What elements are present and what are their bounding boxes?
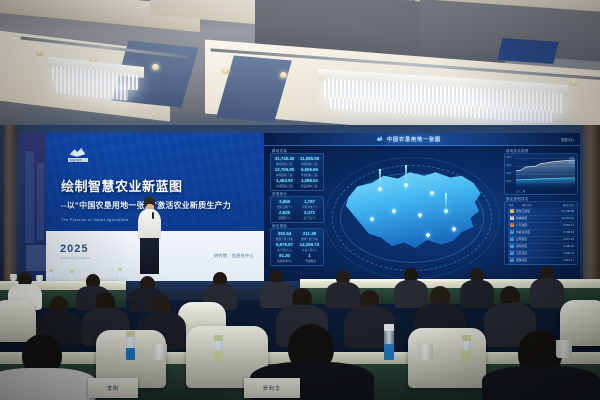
attendee-body (0, 368, 96, 400)
recessed-spotlight-icon (280, 72, 287, 78)
kpi-value: 1,298.51 (297, 178, 322, 183)
trend-chart[interactable]: 6000 4500 3000 1500 (504, 153, 578, 195)
speaker-shirt (138, 209, 161, 241)
placard-name: 李刚 (107, 385, 119, 392)
map-bar (405, 165, 407, 183)
conference-chair (0, 300, 36, 342)
recessed-spotlight-icon (222, 68, 229, 74)
ceiling-wedge (497, 38, 558, 64)
kpi-value: 392.64 (272, 231, 297, 236)
map-pin-icon[interactable] (404, 183, 408, 187)
recessed-spotlight-icon (570, 80, 577, 86)
water-bottle (70, 273, 74, 283)
map-pin-icon[interactable] (418, 213, 422, 217)
kpi-label: 管理区(个) (272, 216, 297, 220)
dashboard-badge: 数据中心 (561, 137, 574, 142)
bottle-label (384, 344, 394, 360)
kpi-label: 园地面积(万亩) (297, 162, 322, 166)
map-pin-icon[interactable] (370, 217, 374, 221)
attendee-body (460, 280, 494, 308)
ranking-col-value: 面积(万亩) (563, 203, 574, 207)
kpi-value: 5,879.87 (272, 242, 297, 247)
kpi-value: 2,828 (272, 210, 297, 215)
bottle-cap (49, 269, 53, 272)
kpi-label: 草地面积(万亩) (297, 173, 322, 177)
kpi-value: 2,471 (297, 210, 322, 215)
kpi-label: 林地面积(万亩) (272, 173, 297, 177)
kpi-value: 91.30 (272, 253, 297, 258)
map-pin-icon[interactable] (452, 227, 456, 231)
rank-value: 9,560.71 (563, 223, 574, 227)
kpi-value: 1 (297, 253, 322, 258)
attendee-body (530, 278, 564, 308)
kpi-value: 1,463.92 (272, 178, 297, 183)
water-bottle (118, 271, 122, 282)
rank-badge: 4 (510, 230, 514, 234)
slide-subhead: --以“中国农垦用地一张图”激活农业新质生产力 (61, 200, 266, 211)
data-dashboard: 中国农垦用地一张图 数据中心 耕地总量 31,745.46 耕地面积(万亩) 1… (264, 133, 580, 281)
bottle-cap (462, 335, 471, 341)
rank-name: 安徽垦区 (516, 258, 527, 262)
slide-headline: 绘制智慧农业新蓝图 (61, 176, 266, 195)
name-placard: 李刚 (88, 378, 138, 398)
ranking-col-name: 垦区名称 (522, 203, 532, 207)
recessed-spotlight-icon (36, 50, 43, 56)
map-pin-icon[interactable] (378, 187, 382, 191)
rank-badge: 1 (510, 209, 514, 213)
bottle-cap (384, 324, 394, 331)
kpi-label: 从业人员(人) (297, 248, 322, 252)
attendee-body (482, 366, 600, 400)
dashboard-title: 中国农垦用地一张图 (387, 136, 441, 143)
slide-year-sub: Smart Agriculture (60, 256, 90, 260)
kpi-value: 14,256.73 (297, 242, 322, 247)
dashboard-logo-icon (376, 136, 383, 142)
slide-english-caption: The Practice of Smart Agriculture (61, 218, 266, 222)
slide-title-block: 绘制智慧农业新蓝图 --以“中国农垦用地一张图”激活农业新质生产力 The Pr… (61, 176, 266, 222)
rank-value: 32,018.42 (562, 216, 574, 220)
organization-logo: 中国农科院 (68, 147, 88, 163)
bottle-cap (70, 270, 74, 273)
kpi-value: 31,745.46 (272, 156, 297, 161)
kpi-label: 国有农场(个) (272, 205, 297, 209)
kpi-panel: 3,656 国有农场(个) 1,767 垦区单位(个) 2,828 管理区(个)… (270, 196, 324, 223)
map-bar (445, 193, 447, 209)
ceiling (0, 0, 600, 142)
map-bar (379, 169, 381, 187)
kpi-label: 耕地面积(万亩) (272, 162, 297, 166)
bottle-label (462, 350, 471, 362)
kpi-value: 11,085.99 (297, 156, 322, 161)
rank-name: 云南垦区 (516, 237, 527, 241)
attendee-body (326, 282, 360, 308)
kpi-label: 油料产量(万吨) (297, 237, 322, 241)
kpi-panel: 392.64 粮食产量(万吨) 211.38 油料产量(万吨) 5,879.87… (270, 228, 324, 266)
slide-year: 2025 (60, 243, 90, 255)
rank-value: 4,105.66 (563, 244, 574, 248)
rank-name: 广东垦区 (516, 223, 527, 227)
logo-text: 中国农科院 (68, 158, 88, 162)
kpi-label: 粮食产量(万吨) (272, 237, 297, 241)
kpi-value: 3,656 (272, 199, 297, 204)
bottle-cap (126, 331, 135, 337)
rank-value: 54,736.88 (562, 209, 574, 213)
rank-name: 黑龙江垦区 (516, 209, 530, 213)
tea-cup (36, 275, 43, 282)
recessed-spotlight-icon (152, 64, 159, 70)
tea-cup (152, 344, 167, 360)
speaker-trousers (140, 238, 159, 274)
rank-badge: 6 (510, 244, 514, 248)
map-pin-icon[interactable] (426, 233, 430, 237)
bottle-cap (118, 268, 122, 271)
attendee-body (260, 282, 293, 308)
wall-pillar (583, 125, 600, 285)
bottle-cap (214, 335, 223, 341)
tea-cup (556, 340, 572, 358)
kpi-label: 建设用地(万亩) (297, 184, 322, 188)
kpi-value: 5,506.65 (297, 167, 322, 172)
bottle-label (214, 350, 223, 362)
rank-badge: 3 (510, 223, 514, 227)
kpi-label: 总产值(亿元) (272, 248, 297, 252)
kpi-label: 水域面积(万亩) (272, 184, 297, 188)
led-video-wall: 中国农科院 绘制智慧农业新蓝图 --以“中国农垦用地一张图”激活农业新质生产力 … (20, 133, 580, 281)
rank-name: 江苏垦区 (516, 251, 527, 255)
rank-badge: 7 (510, 251, 514, 255)
name-placard: 罗利华 (244, 378, 300, 398)
rank-badge: 8 (510, 258, 514, 262)
tea-cup (418, 344, 433, 360)
ranking-list[interactable]: 排名 垦区名称 面积(万亩) 1 黑龙江垦区 54,736.88 2 新疆兵团 … (504, 201, 578, 265)
attendee-body (394, 280, 428, 308)
map-pin-icon[interactable] (444, 209, 448, 213)
tea-cup (10, 274, 17, 281)
rank-value: 4,873.20 (563, 237, 574, 241)
kpi-label: 机械化率(%) (272, 259, 297, 263)
rank-value: 2,814.17 (563, 258, 574, 262)
bottle-label (126, 348, 135, 360)
table-row[interactable]: 8 安徽垦区 2,814.17 (508, 257, 576, 265)
map-pin-icon[interactable] (430, 191, 434, 195)
rank-name: 海南垦区 (516, 244, 527, 248)
dashboard-header: 中国农垦用地一张图 数据中心 (264, 133, 580, 146)
logo-mark-icon (68, 147, 86, 157)
kpi-label: 垦区单位(个) (297, 205, 322, 209)
rank-value: 3,290.44 (563, 251, 574, 255)
rank-badge: 5 (510, 237, 514, 241)
kpi-panel: 31,745.46 耕地面积(万亩) 11,085.99 园地面积(万亩) 13… (270, 153, 324, 191)
rank-badge: 2 (510, 216, 514, 220)
chart-series-svg (505, 154, 577, 194)
kpi-label: 生产队(个) (297, 216, 322, 220)
china-map-widget[interactable] (326, 151, 496, 271)
handheld-microphone-icon (152, 212, 154, 219)
conference-photo: 中国农科院 绘制智慧农业新蓝图 --以“中国农垦用地一张图”激活农业新质生产力 … (0, 0, 600, 400)
wall-pillar (4, 125, 17, 285)
slide-footer-right: 研究院 · 信息化中心 (214, 253, 254, 259)
chart-legend-2: 园地 (569, 160, 574, 164)
kpi-value: 13,705.00 (272, 167, 297, 172)
rank-name: 新疆兵团 (516, 216, 527, 220)
ranking-col-rank: 排名 (509, 203, 514, 207)
placard-name: 罗利华 (263, 385, 281, 392)
water-bottle (49, 272, 53, 283)
kpi-value: 211.38 (297, 231, 322, 236)
map-pin-icon[interactable] (392, 209, 396, 213)
kpi-value: 1,767 (297, 199, 322, 204)
kpi-label: 一张图覆盖 (297, 259, 322, 263)
rank-value: 6,798.03 (563, 230, 574, 234)
chart-range-label: 近十二期 (516, 189, 525, 193)
rank-name: 内蒙古垦区 (516, 230, 530, 234)
